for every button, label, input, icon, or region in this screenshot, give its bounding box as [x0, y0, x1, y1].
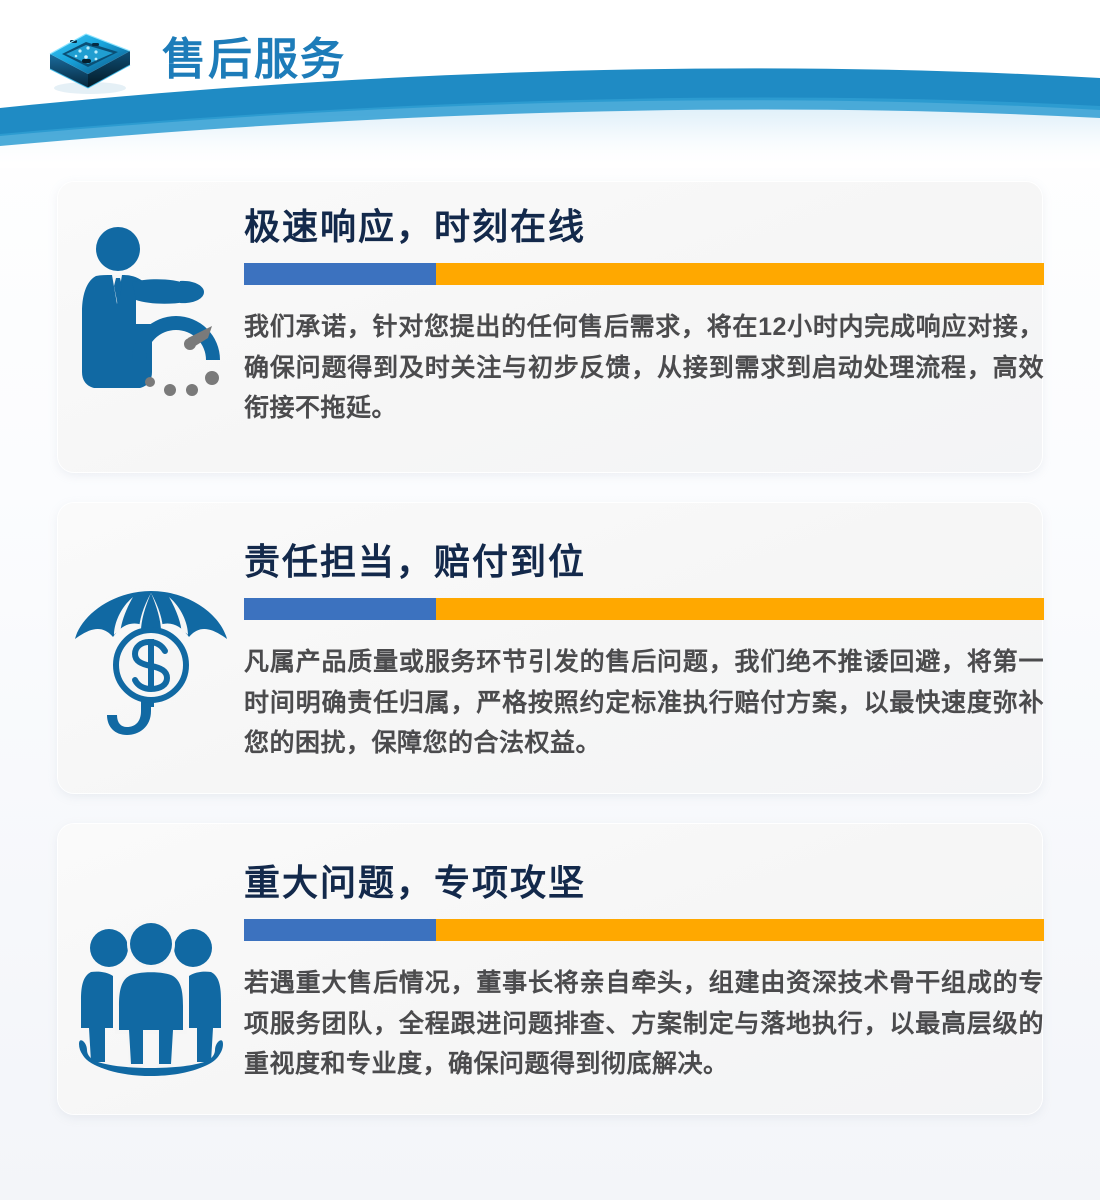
page-title: 售后服务	[162, 38, 346, 82]
page-header: 售后服务	[0, 0, 1100, 168]
card-description: 凡属产品质量或服务环节引发的售后问题，我们绝不推诿回避，将第一时间明确责任归属，…	[244, 642, 1044, 764]
service-card-task-force: 重大问题，专项攻坚 若遇重大售后情况，董事长将亲自牵头，组建由资深技术骨干组成的…	[58, 824, 1042, 1114]
hot-tub-spa-icon	[36, 24, 140, 96]
card-description: 我们承诺，针对您提出的任何售后需求，将在12小时内完成响应对接，确保问题得到及时…	[244, 307, 1044, 429]
progress-bar-orange-segment	[436, 263, 1044, 285]
card-content: 责任担当，赔付到位 凡属产品质量或服务环节引发的售后问题，我们绝不推诿回避，将第…	[244, 525, 1044, 764]
support-agent-speedometer-icon	[76, 220, 226, 398]
progress-bar-blue-segment	[244, 919, 436, 941]
progress-bar-orange-segment	[436, 919, 1044, 941]
card-title: 重大问题，专项攻坚	[244, 860, 1044, 905]
progress-bar-blue-segment	[244, 598, 436, 620]
progress-bar-orange-segment	[436, 598, 1044, 620]
header-brand: 售后服务	[36, 24, 346, 96]
card-icon-wrapper	[58, 525, 244, 753]
card-icon-wrapper	[58, 846, 244, 1076]
service-cards-list: 极速响应，时刻在线 我们承诺，针对您提出的任何售后需求，将在12小时内完成响应对…	[0, 168, 1100, 1114]
card-title: 责任担当，赔付到位	[244, 539, 1044, 584]
card-content: 极速响应，时刻在线 我们承诺，针对您提出的任何售后需求，将在12小时内完成响应对…	[244, 204, 1044, 429]
progress-bar	[244, 598, 1044, 620]
card-content: 重大问题，专项攻坚 若遇重大售后情况，董事长将亲自牵头，组建由资深技术骨干组成的…	[244, 846, 1044, 1085]
card-title: 极速响应，时刻在线	[244, 204, 1044, 249]
progress-bar	[244, 263, 1044, 285]
card-icon-wrapper	[58, 204, 244, 398]
umbrella-dollar-insurance-icon	[73, 581, 229, 753]
progress-bar	[244, 919, 1044, 941]
service-card-fast-response: 极速响应，时刻在线 我们承诺，针对您提出的任何售后需求，将在12小时内完成响应对…	[58, 182, 1042, 472]
card-description: 若遇重大售后情况，董事长将亲自牵头，组建由资深技术骨干组成的专项服务团队，全程跟…	[244, 963, 1044, 1085]
service-card-compensation: 责任担当，赔付到位 凡属产品质量或服务环节引发的售后问题，我们绝不推诿回避，将第…	[58, 503, 1042, 793]
team-group-people-icon	[71, 916, 231, 1076]
progress-bar-blue-segment	[244, 263, 436, 285]
